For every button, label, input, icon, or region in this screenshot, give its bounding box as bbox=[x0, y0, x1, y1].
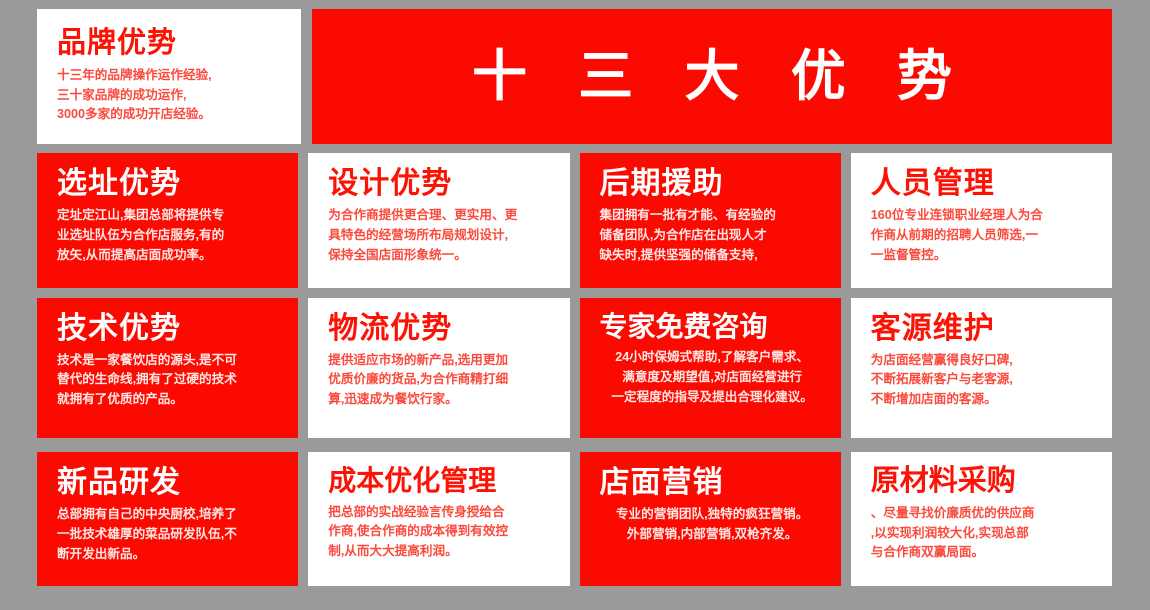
advantages-infographic: 品牌优势 十三年的品牌操作运作经验, 三十家品牌的成功运作, 3000多家的成功… bbox=[0, 0, 1150, 610]
card-expert-consulting: 专家免费咨询 24小时保姆式帮助,了解客户需求、 满意度及期望值,对店面经营进行… bbox=[580, 298, 841, 438]
card-row-2: 选址优势 定址定江山,集团总部将提供专 业选址队伍为合作店服务,有的 放矢,从而… bbox=[37, 153, 1112, 287]
banner-title: 十 三 大 优 势 bbox=[454, 49, 970, 104]
card-body: 160位专业连锁职业经理人为合 作商从前期的招聘人员筛选,一 一监督管控。 bbox=[871, 206, 1096, 266]
card-title: 后期援助 bbox=[600, 167, 825, 200]
main-banner: 十 三 大 优 势 bbox=[312, 9, 1112, 144]
card-title: 设计优势 bbox=[328, 167, 553, 200]
card-row-4: 新品研发 总部拥有自己的中央厨校,培养了 一批技术雄厚的菜品研发队伍,不 断开发… bbox=[37, 452, 1112, 586]
card-new-product-rnd: 新品研发 总部拥有自己的中央厨校,培养了 一批技术雄厚的菜品研发队伍,不 断开发… bbox=[37, 452, 298, 586]
card-title: 选址优势 bbox=[57, 167, 282, 200]
card-body: 把总部的实战经验言传身授给合 作商,使合作商的成本得到有效控 制,从而大大提高利… bbox=[328, 503, 553, 563]
card-logistics: 物流优势 提供适应市场的新产品,选用更加 优质价廉的货品,为合作商精打细 算,迅… bbox=[308, 298, 569, 438]
card-design: 设计优势 为合作商提供更合理、更实用、更 具特色的经营场所布局规划设计, 保持全… bbox=[308, 153, 569, 287]
card-technology: 技术优势 技术是一家餐饮店的源头,是不可 替代的生命线,拥有了过硬的技术 就拥有… bbox=[37, 298, 298, 438]
card-title: 品牌优势 bbox=[57, 27, 284, 59]
card-body: 提供适应市场的新产品,选用更加 优质价廉的货品,为合作商精打细 算,迅速成为餐饮… bbox=[328, 351, 553, 411]
card-body: 、尽量寻找价廉质优的供应商 ,以实现利润较大化,实现总部 与合作商双赢局面。 bbox=[871, 504, 1096, 564]
card-customer-retention: 客源维护 为店面经营赢得良好口碑, 不断拓展新客户与老客源, 不断增加店面的客源… bbox=[851, 298, 1112, 438]
card-body: 定址定江山,集团总部将提供专 业选址队伍为合作店服务,有的 放矢,从而提高店面成… bbox=[57, 206, 282, 266]
card-title: 专家免费咨询 bbox=[600, 312, 825, 343]
card-title: 店面营销 bbox=[600, 466, 825, 499]
card-body: 总部拥有自己的中央厨校,培养了 一批技术雄厚的菜品研发队伍,不 断开发出新品。 bbox=[57, 505, 282, 565]
card-body: 集团拥有一批有才能、有经验的 储备团队,为合作店在出现人才 缺失时,提供坚强的储… bbox=[600, 206, 825, 266]
card-brand-advantage: 品牌优势 十三年的品牌操作运作经验, 三十家品牌的成功运作, 3000多家的成功… bbox=[37, 9, 301, 144]
card-row-3: 技术优势 技术是一家餐饮店的源头,是不可 替代的生命线,拥有了过硬的技术 就拥有… bbox=[37, 298, 1112, 438]
card-personnel-management: 人员管理 160位专业连锁职业经理人为合 作商从前期的招聘人员筛选,一 一监督管… bbox=[851, 153, 1112, 287]
card-body: 专业的营销团队,独特的疯狂营销。 外部营销,内部营销,双枪齐发。 bbox=[600, 505, 825, 545]
card-title: 人员管理 bbox=[871, 167, 1096, 200]
card-title: 客源维护 bbox=[871, 312, 1096, 345]
card-raw-material-procurement: 原材料采购 、尽量寻找价廉质优的供应商 ,以实现利润较大化,实现总部 与合作商双… bbox=[851, 452, 1112, 586]
card-body: 为合作商提供更合理、更实用、更 具特色的经营场所布局规划设计, 保持全国店面形象… bbox=[328, 206, 553, 266]
card-site-selection: 选址优势 定址定江山,集团总部将提供专 业选址队伍为合作店服务,有的 放矢,从而… bbox=[37, 153, 298, 287]
card-body: 为店面经营赢得良好口碑, 不断拓展新客户与老客源, 不断增加店面的客源。 bbox=[871, 351, 1096, 411]
header-row: 品牌优势 十三年的品牌操作运作经验, 三十家品牌的成功运作, 3000多家的成功… bbox=[37, 9, 1112, 144]
card-title: 新品研发 bbox=[57, 466, 282, 499]
card-cost-optimization: 成本优化管理 把总部的实战经验言传身授给合 作商,使合作商的成本得到有效控 制,… bbox=[308, 452, 569, 586]
card-store-marketing: 店面营销 专业的营销团队,独特的疯狂营销。 外部营销,内部营销,双枪齐发。 bbox=[580, 452, 841, 586]
card-body: 24小时保姆式帮助,了解客户需求、 满意度及期望值,对店面经营进行 一定程度的指… bbox=[600, 348, 825, 408]
card-body: 技术是一家餐饮店的源头,是不可 替代的生命线,拥有了过硬的技术 就拥有了优质的产… bbox=[57, 351, 282, 411]
card-title: 原材料采购 bbox=[871, 466, 1096, 498]
card-title: 物流优势 bbox=[328, 312, 553, 345]
card-post-support: 后期援助 集团拥有一批有才能、有经验的 储备团队,为合作店在出现人才 缺失时,提… bbox=[580, 153, 841, 287]
card-title: 技术优势 bbox=[57, 312, 282, 345]
card-title: 成本优化管理 bbox=[328, 466, 553, 497]
card-body: 十三年的品牌操作运作经验, 三十家品牌的成功运作, 3000多家的成功开店经验。 bbox=[57, 66, 284, 123]
